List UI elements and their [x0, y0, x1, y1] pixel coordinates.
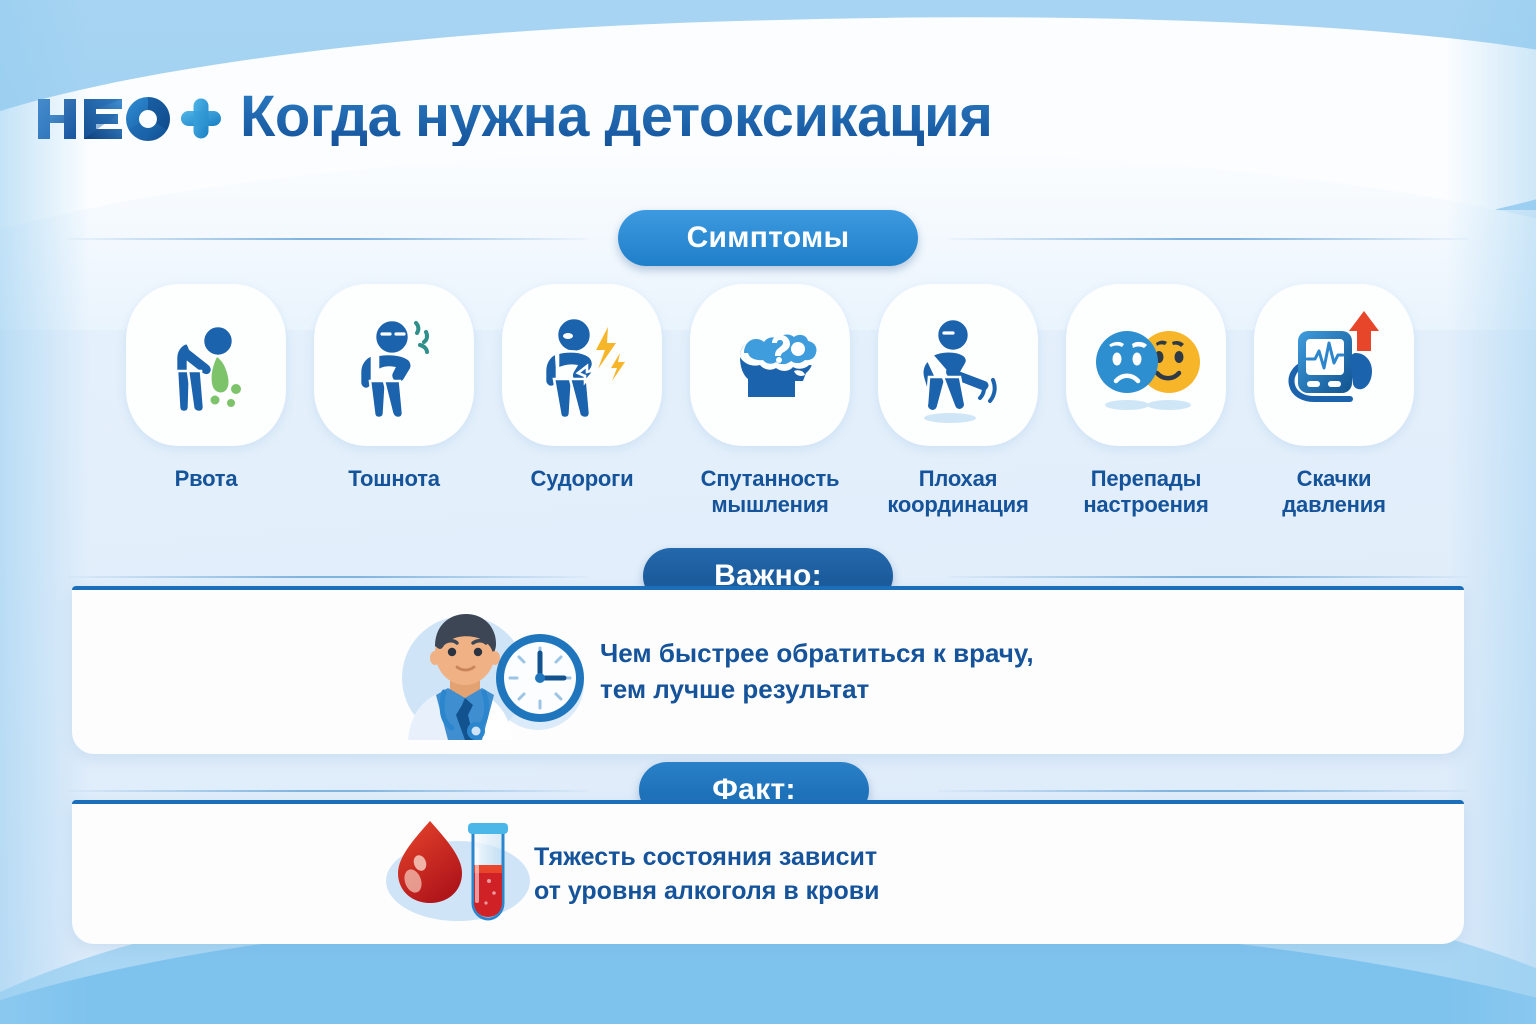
symptom-label: Тошнота	[348, 466, 440, 492]
neo-plus-logo-icon	[30, 85, 230, 149]
symptom-label-line1: Плохая	[887, 466, 1028, 492]
symptom-label-line2: мышления	[701, 492, 840, 518]
header: Когда нужна детоксикация	[0, 72, 1536, 162]
symptom-item[interactable]: Перепады настроения	[1060, 284, 1232, 518]
divider-right	[948, 576, 1468, 578]
symptom-label: Перепады настроения	[1083, 466, 1208, 518]
symptom-item[interactable]: Тошнота	[308, 284, 480, 518]
divider-right	[938, 790, 1468, 792]
divider-left	[68, 790, 588, 792]
symptom-label-line1: Рвота	[175, 466, 238, 492]
symptom-label: Спутанность мышления	[701, 466, 840, 518]
fact-text-line1: Тяжесть состояния зависит	[534, 840, 879, 875]
symptom-label: Плохая координация	[887, 466, 1028, 518]
important-panel: Чем быстрее обратиться к врачу, тем лучш…	[72, 586, 1464, 754]
symptom-card[interactable]	[502, 284, 662, 446]
page-title: Когда нужна детоксикация	[240, 88, 992, 146]
symptoms-section-header: Симптомы	[0, 210, 1536, 266]
symptom-item[interactable]: Скачки давления	[1248, 284, 1420, 518]
symptom-label: Скачки давления	[1282, 466, 1385, 518]
blood-pressure-monitor-icon	[1274, 305, 1394, 425]
symptom-card[interactable]	[690, 284, 850, 446]
important-text: Чем быстрее обратиться к врачу, тем лучш…	[600, 636, 1034, 708]
nausea-person-icon	[334, 305, 454, 425]
infographic-root: Когда нужна детоксикация Симптомы	[0, 0, 1536, 1024]
stumbling-person-icon	[898, 305, 1018, 425]
symptom-label-line1: Тошнота	[348, 466, 440, 492]
symptom-label: Рвота	[175, 466, 238, 492]
symptom-label-line1: Судороги	[531, 466, 634, 492]
symptom-item[interactable]: Плохая координация	[872, 284, 1044, 518]
sad-happy-faces-icon	[1083, 305, 1209, 425]
fact-panel: Тяжесть состояния зависит от уровня алко…	[72, 800, 1464, 944]
fact-text: Тяжесть состояния зависит от уровня алко…	[534, 840, 879, 909]
symptom-label-line2: настроения	[1083, 492, 1208, 518]
symptom-label-line2: давления	[1282, 492, 1385, 518]
divider-left	[68, 238, 588, 240]
important-text-line1: Чем быстрее обратиться к врачу,	[600, 636, 1034, 672]
vomiting-person-icon	[146, 305, 266, 425]
symptoms-pill: Симптомы	[618, 210, 918, 266]
symptom-label: Судороги	[531, 466, 634, 492]
doctor-with-clock-illustration	[372, 600, 592, 745]
symptom-label-line1: Скачки	[1282, 466, 1385, 492]
symptom-card[interactable]	[126, 284, 286, 446]
symptom-card[interactable]	[878, 284, 1038, 446]
cramps-lightning-icon	[522, 305, 642, 425]
symptoms-list: Рвота	[120, 284, 1420, 518]
divider-left	[68, 576, 588, 578]
symptom-label-line1: Спутанность	[701, 466, 840, 492]
symptom-label-line2: координация	[887, 492, 1028, 518]
symptom-item[interactable]: Спутанность мышления	[684, 284, 856, 518]
fact-text-line2: от уровня алкоголя в крови	[534, 874, 879, 909]
blood-drop-test-tube-illustration	[372, 807, 552, 942]
symptom-item[interactable]: Судороги	[496, 284, 668, 518]
symptom-card[interactable]	[314, 284, 474, 446]
symptom-item[interactable]: Рвота	[120, 284, 292, 518]
important-text-line2: тем лучше результат	[600, 672, 1034, 708]
symptom-card[interactable]	[1066, 284, 1226, 446]
symptom-label-line1: Перепады	[1083, 466, 1208, 492]
confused-head-question-icon	[710, 305, 830, 425]
divider-right	[948, 238, 1468, 240]
symptom-card[interactable]	[1254, 284, 1414, 446]
